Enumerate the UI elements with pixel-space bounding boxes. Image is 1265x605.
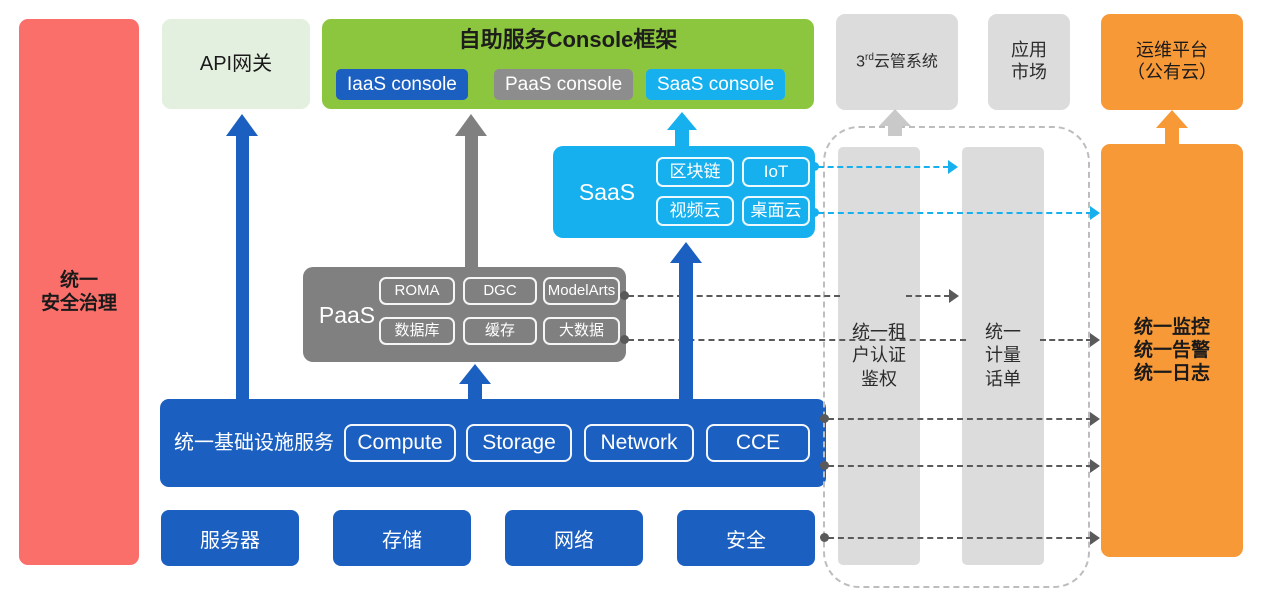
ops-platform-top-label: 运维平台（公有云） bbox=[1127, 40, 1217, 84]
connector-saas-to-auth bbox=[818, 166, 949, 168]
infra-service-network[interactable]: Network bbox=[584, 424, 694, 462]
third-party-cloud-label: 3rd云管系统 bbox=[856, 52, 938, 72]
connector-hardware-to-ops bbox=[828, 537, 1092, 539]
infra-service-compute[interactable]: Compute bbox=[344, 424, 456, 462]
shared-column-tenant-auth[interactable]: 统一租户认证鉴权 bbox=[838, 147, 920, 565]
saas-layer-label: SaaS bbox=[563, 178, 651, 206]
connector-paas-to-auth bbox=[628, 295, 840, 297]
console-framework-title: 自助服务Console框架 bbox=[322, 27, 814, 54]
connector-auth-to-meter bbox=[906, 295, 950, 297]
connector-arrow-saas-auth bbox=[948, 160, 958, 174]
connector-infra-to-ops-1 bbox=[828, 418, 1092, 420]
third-party-cloud-management-box[interactable]: 3rd云管系统 bbox=[836, 14, 958, 110]
connector-arrow-hardware-ops bbox=[1090, 531, 1100, 545]
connector-saas-to-ops bbox=[818, 212, 1092, 214]
connector-meter-to-ops bbox=[1040, 339, 1092, 341]
shared-column-metering-billing-label: 统一计量话单 bbox=[985, 321, 1021, 390]
api-gateway-box[interactable]: API网关 bbox=[162, 19, 310, 109]
connector-arrow-auth-meter bbox=[949, 289, 959, 303]
saas-service-iot[interactable]: IoT bbox=[742, 157, 810, 187]
connector-arrow-saas-ops bbox=[1090, 206, 1100, 220]
saas-service-blockchain[interactable]: 区块链 bbox=[656, 157, 734, 187]
saas-layer[interactable]: SaaS 区块链 IoT 视频云 桌面云 bbox=[553, 146, 815, 238]
unified-infrastructure-service-layer[interactable]: 统一基础设施服务 Compute Storage Network CCE bbox=[160, 399, 826, 487]
shared-column-tenant-auth-label: 统一租户认证鉴权 bbox=[852, 321, 906, 390]
connector-arrow-infra-ops-2 bbox=[1090, 459, 1100, 473]
hardware-box-security[interactable]: 安全 bbox=[677, 510, 815, 566]
architecture-diagram: 统一安全治理 API网关 自助服务Console框架 IaaS console … bbox=[0, 0, 1265, 605]
infra-service-storage[interactable]: Storage bbox=[466, 424, 572, 462]
paas-service-roma[interactable]: ROMA bbox=[379, 277, 455, 305]
saas-service-video-cloud[interactable]: 视频云 bbox=[656, 196, 734, 226]
paas-service-dgc[interactable]: DGC bbox=[463, 277, 537, 305]
paas-layer[interactable]: PaaS ROMA DGC ModelArts 数据库 缓存 大数据 bbox=[303, 267, 626, 362]
paas-service-cache[interactable]: 缓存 bbox=[463, 317, 537, 345]
hardware-box-server[interactable]: 服务器 bbox=[161, 510, 299, 566]
hardware-box-storage[interactable]: 存储 bbox=[333, 510, 471, 566]
connector-arrow-infra-ops-1 bbox=[1090, 412, 1100, 426]
paas-layer-label: PaaS bbox=[309, 300, 385, 328]
infra-layer-label: 统一基础设施服务 bbox=[174, 431, 334, 455]
saas-console-chip[interactable]: SaaS console bbox=[646, 69, 785, 100]
paas-service-modelarts[interactable]: ModelArts bbox=[543, 277, 620, 305]
connector-infra-to-ops-2 bbox=[828, 465, 1092, 467]
application-market-box[interactable]: 应用市场 bbox=[988, 14, 1070, 110]
ops-platform-monitoring-pillar[interactable]: 统一监控统一告警统一日志 bbox=[1101, 144, 1243, 557]
shared-column-metering-billing[interactable]: 统一计量话单 bbox=[962, 147, 1044, 565]
paas-service-bigdata[interactable]: 大数据 bbox=[543, 317, 620, 345]
iaas-console-chip[interactable]: IaaS console bbox=[336, 69, 468, 100]
unified-security-governance-pillar[interactable]: 统一安全治理 bbox=[19, 19, 139, 565]
ops-platform-body-label: 统一监控统一告警统一日志 bbox=[1134, 316, 1210, 386]
saas-service-desktop-cloud[interactable]: 桌面云 bbox=[742, 196, 810, 226]
connector-arrow-meter-ops bbox=[1090, 333, 1100, 347]
api-gateway-label: API网关 bbox=[200, 52, 272, 76]
app-market-label: 应用市场 bbox=[1011, 40, 1047, 84]
security-pillar-label: 统一安全治理 bbox=[41, 269, 117, 315]
paas-service-database[interactable]: 数据库 bbox=[379, 317, 455, 345]
hardware-box-network[interactable]: 网络 bbox=[505, 510, 643, 566]
self-service-console-framework[interactable]: 自助服务Console框架 IaaS console PaaS console … bbox=[322, 19, 814, 109]
infra-service-cce[interactable]: CCE bbox=[706, 424, 810, 462]
ops-platform-public-cloud-box[interactable]: 运维平台（公有云） bbox=[1101, 14, 1243, 110]
paas-console-chip[interactable]: PaaS console bbox=[494, 69, 633, 100]
